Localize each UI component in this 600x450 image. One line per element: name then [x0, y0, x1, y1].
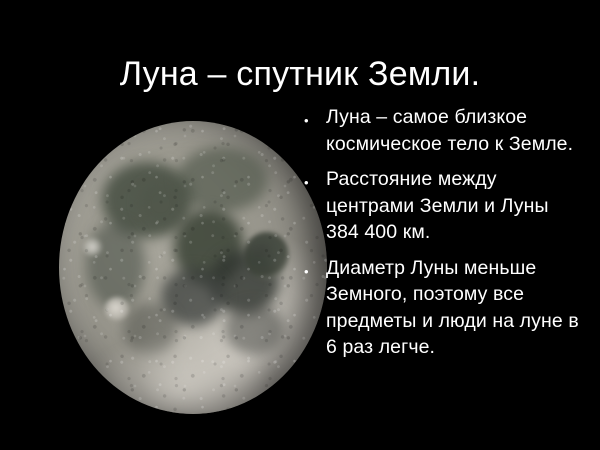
- list-item: • Луна – самое близкое космическое тело …: [304, 104, 584, 157]
- moon-image: [59, 121, 327, 414]
- limb-darkening: [59, 121, 327, 414]
- bullet-point-icon: •: [304, 255, 326, 278]
- list-item-text: Расстояние между центрами Земли и Луны 3…: [326, 166, 584, 246]
- bullet-point-icon: •: [304, 104, 326, 127]
- bullet-point-icon: •: [304, 166, 326, 189]
- list-item: • Расстояние между центрами Земли и Луны…: [304, 166, 584, 246]
- presentation-slide: Луна – спутник Земли. • Луна – самое бли…: [0, 0, 600, 450]
- moon-disc: [59, 121, 327, 414]
- list-item: • Диаметр Луны меньше Земного, поэтому в…: [304, 255, 584, 361]
- list-item-text: Диаметр Луны меньше Земного, поэтому все…: [326, 255, 584, 361]
- bullet-list: • Луна – самое близкое космическое тело …: [304, 104, 584, 370]
- list-item-text: Луна – самое близкое космическое тело к …: [326, 104, 584, 157]
- page-title: Луна – спутник Земли.: [0, 53, 600, 95]
